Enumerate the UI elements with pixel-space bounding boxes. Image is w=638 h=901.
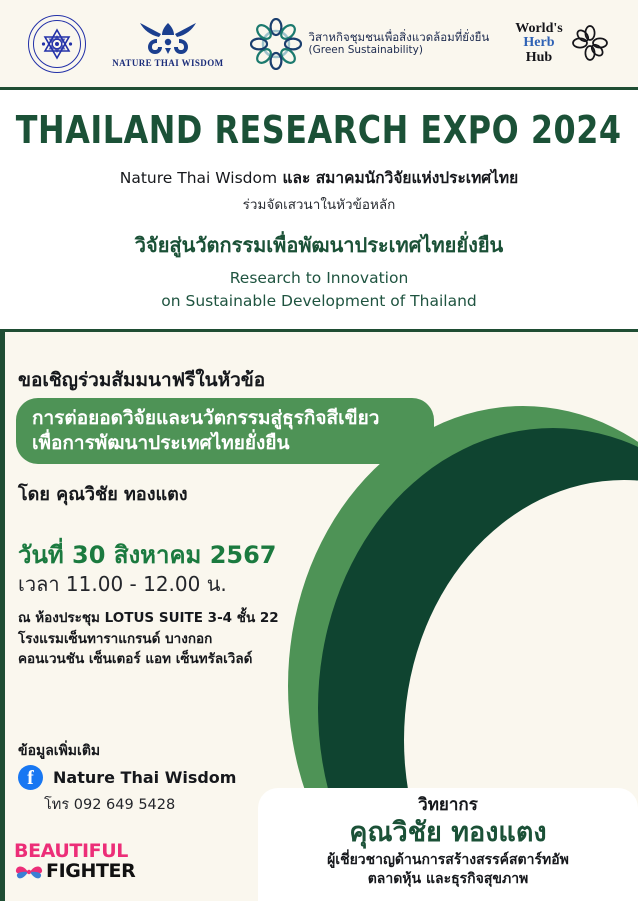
expo-main-title: THAILAND RESEARCH EXPO 2024 [16, 108, 622, 152]
facebook-icon[interactable]: f [18, 765, 43, 790]
sponsor-word-fighter: FIGHTER [46, 862, 135, 881]
whh-line-2: Herb [515, 36, 562, 50]
butterfly-icon [14, 863, 44, 881]
green-sustainability-label-th: วิสาหกิจชุมชนเพื่อสิ่งแวดล้อมที่ยั่งยืน [309, 30, 490, 44]
partner-logo-band: NATURE THAI WISDOM วิสาหกิจชุมชนเพื่อสิ่… [0, 0, 638, 87]
event-time: เวลา 11.00 - 12.00 น. [18, 568, 227, 600]
organizer-latin: Nature Thai Wisdom [120, 169, 277, 187]
speaker-desc-line-2: ตลาดหุ้น และธุรกิจสุขภาพ [327, 870, 569, 889]
speaker-description: ผู้เชี่ยวชาญด้านการสร้างสรรค์สตาร์ทอัพ ต… [327, 851, 569, 889]
theme-english: Research to Innovation on Sustainable De… [161, 267, 477, 314]
whh-line-1: World's [515, 22, 562, 36]
whh-line-3: Hub [515, 51, 562, 65]
event-venue: ณ ห้องประชุม LOTUS SUITE 3-4 ชั้น 22 โรง… [18, 608, 279, 670]
co-host-line: ร่วมจัดเสวนาในหัวข้อหลัก [243, 193, 396, 215]
poster-root: NATURE THAI WISDOM วิสาหกิจชุมชนเพื่อสิ่… [0, 0, 638, 901]
mandala-circle-icon [250, 18, 302, 70]
venue-line-3: คอนเวนชัน เซ็นเตอร์ แอท เซ็นทรัลเวิลด์ [18, 649, 279, 670]
organizer-connector: และ [277, 169, 316, 187]
organizer-thai: สมาคมนักวิจัยแห่งประเทศไทย [316, 169, 519, 187]
theme-en-line-2: on Sustainable Development of Thailand [161, 290, 477, 313]
contact-phone: โทร 092 649 5428 [44, 793, 175, 816]
speaker-desc-line-1: ผู้เชี่ยวชาญด้านการสร้างสรรค์สตาร์ทอัพ [327, 851, 569, 870]
theme-thai: วิจัยสู่นวัตกรรมเพื่อพัฒนาประเทศไทยยั่งย… [135, 229, 503, 261]
left-accent-strip [0, 332, 5, 901]
seminar-topic-pill: การต่อยอดวิจัยและนวัตกรรมสู่ธุรกิจสีเขีย… [16, 398, 434, 464]
beautiful-fighter-logo: BEAUTIFUL FIGHTER [14, 842, 135, 881]
title-section: THAILAND RESEARCH EXPO 2024 Nature Thai … [0, 90, 638, 331]
nature-thai-wisdom-logo: NATURE THAI WISDOM [112, 19, 223, 68]
venue-line-2: โรงแรมเซ็นทาราแกรนด์ บางกอก [18, 629, 279, 650]
research-institute-seal-icon [28, 15, 86, 73]
facebook-contact-row[interactable]: f Nature Thai Wisdom [18, 765, 236, 790]
green-sustainability-label-en: (Green Sustainability) [309, 44, 490, 57]
seminar-topic-line-1: การต่อยอดวิจัยและนวัตกรรมสู่ธุรกิจสีเขีย… [32, 406, 418, 431]
thai-wing-motif-icon [137, 19, 199, 57]
invitation-heading: ขอเชิญร่วมสัมมนาฟรีในหัวข้อ [18, 365, 265, 395]
venue-line-1: ณ ห้องประชุม LOTUS SUITE 3-4 ชั้น 22 [18, 608, 279, 629]
speaker-role: วิทยากร [418, 796, 478, 816]
speaker-name: คุณวิชัย ทองแตง [349, 817, 546, 849]
sponsor-word-beautiful: BEAUTIFUL [14, 842, 135, 861]
research-institute-seal-logo [28, 15, 86, 73]
speaker-byline: โดย คุณวิชัย ทองแตง [18, 479, 188, 508]
organizers-line: Nature Thai Wisdom และ สมาคมนักวิจัยแห่ง… [120, 165, 518, 190]
theme-en-line-1: Research to Innovation [161, 267, 477, 290]
seminar-topic-line-2: เพื่อการพัฒนาประเทศไทยยั่งยืน [32, 431, 418, 456]
more-info-heading: ข้อมูลเพิ่มเติม [18, 740, 100, 762]
speaker-info-card: วิทยากร คุณวิชัย ทองแตง ผู้เชี่ยวชาญด้าน… [258, 788, 638, 901]
green-sustainability-logo: วิสาหกิจชุมชนเพื่อสิ่งแวดล้อมที่ยั่งยืน … [250, 18, 490, 70]
worlds-herb-hub-logo: World's Herb Hub [515, 22, 609, 65]
herb-flower-icon [570, 23, 610, 63]
nature-thai-wisdom-label: NATURE THAI WISDOM [112, 58, 223, 68]
facebook-page-name[interactable]: Nature Thai Wisdom [53, 768, 236, 787]
